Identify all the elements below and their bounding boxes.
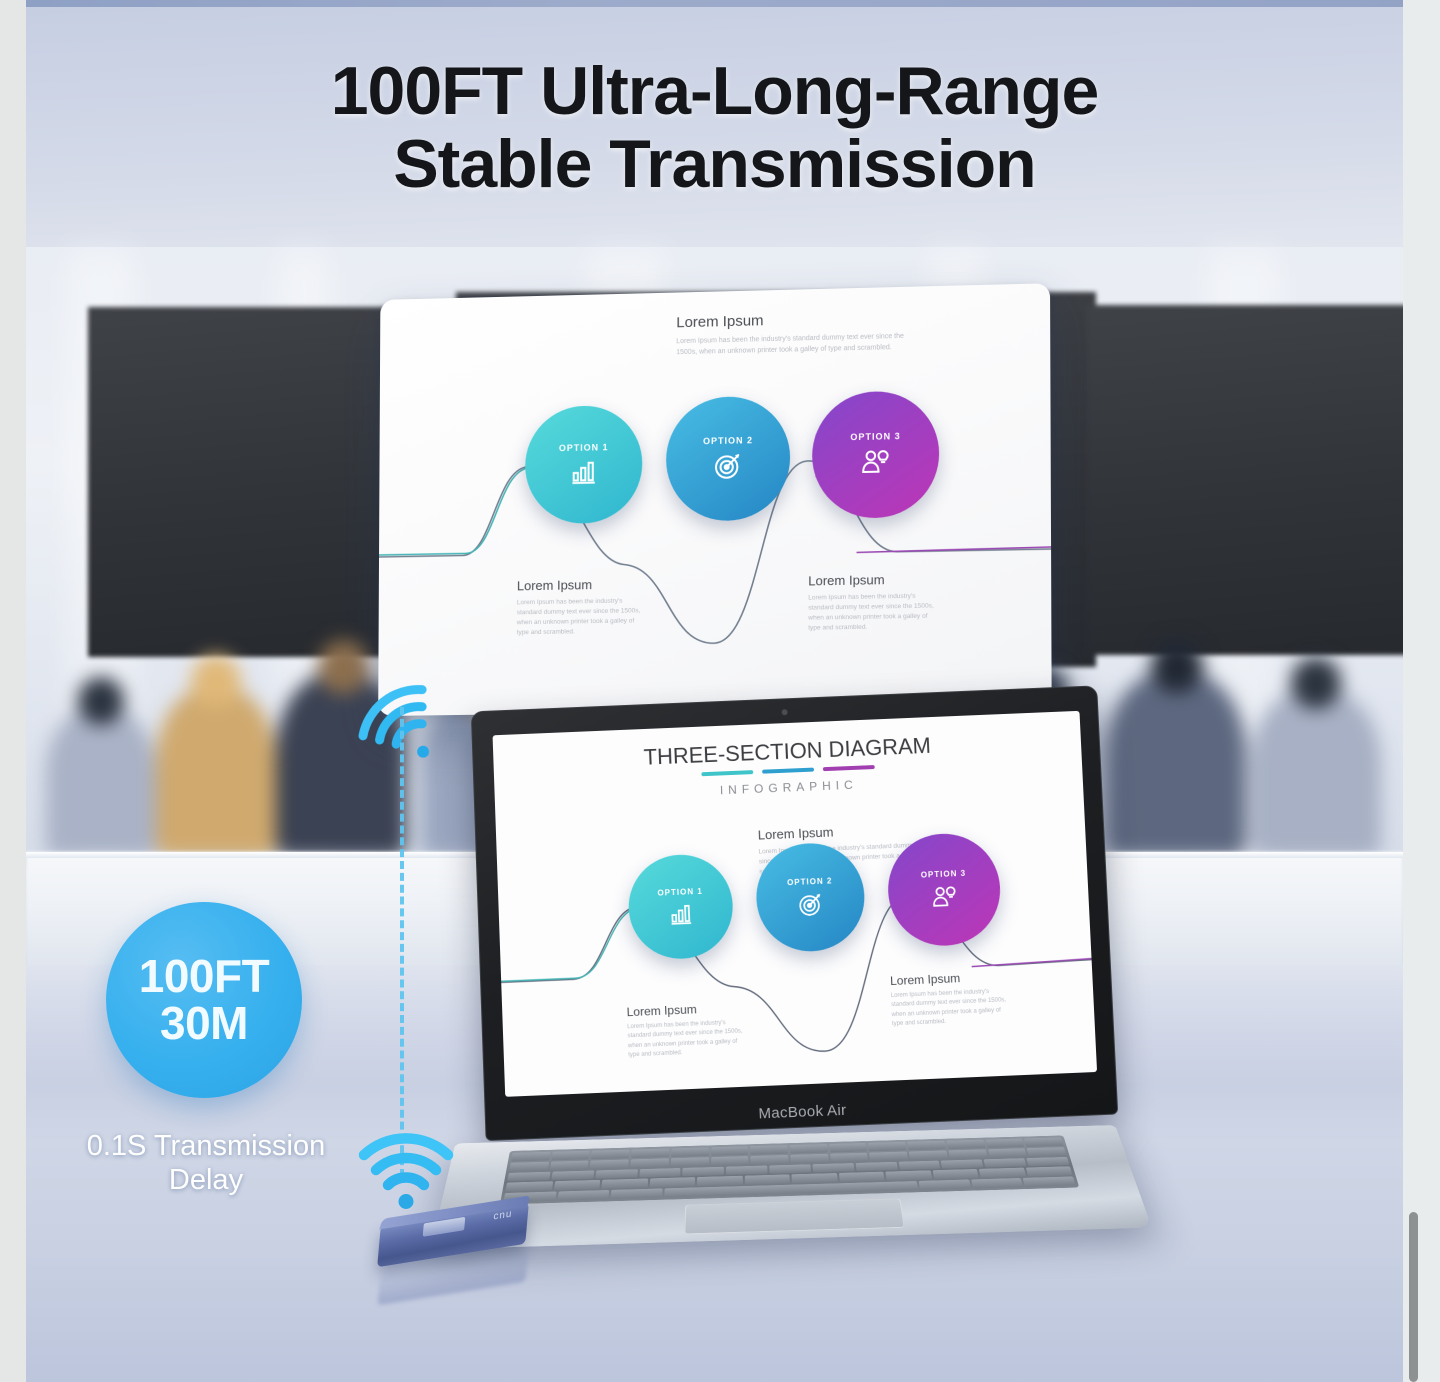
scrollbar-track[interactable] <box>1416 0 1430 1382</box>
projected-slide-board: Lorem Ipsum Lorem Ipsum has been the ind… <box>378 283 1052 716</box>
laptop-option-3-caption-body: Lorem Ipsum has been the industry's stan… <box>891 987 1013 1029</box>
top-accent-bar <box>26 0 1403 7</box>
laptop-infographic: THREE-SECTION DIAGRAM INFOGRAPHIC Lorem … <box>493 711 1098 1097</box>
product-marketing-image: 100FT Ultra-Long-Range Stable Transmissi… <box>0 0 1440 1382</box>
delay-line-2: Delay <box>169 1164 243 1196</box>
bar-chart-icon <box>667 900 694 927</box>
option-bubble-1[interactable]: OPTION 1 <box>525 405 642 525</box>
marketing-photo-canvas: 100FT Ultra-Long-Range Stable Transmissi… <box>26 7 1403 1382</box>
option-2-label: OPTION 2 <box>703 435 753 446</box>
laptop-screen: THREE-SECTION DIAGRAM INFOGRAPHIC Lorem … <box>493 711 1098 1097</box>
page-title: 100FT Ultra-Long-Range Stable Transmissi… <box>26 55 1403 202</box>
headline-line-2: Stable Transmission <box>26 128 1403 201</box>
bar-chart-icon <box>569 456 599 486</box>
wall-display-right <box>1086 305 1403 655</box>
dongle-brand-mark: cnu <box>493 1208 513 1222</box>
range-badge: 100FT 30M <box>106 902 302 1098</box>
dashed-connector-line <box>400 707 404 1177</box>
option-1-label: OPTION 1 <box>559 442 609 453</box>
accent-bar-blue <box>762 768 814 774</box>
laptop-option-3-caption-heading: Lorem Ipsum <box>890 969 1011 988</box>
scrollbar-thumb[interactable] <box>1409 1212 1418 1382</box>
slide-subtitle: INFOGRAPHIC <box>495 768 1083 806</box>
option-bubble-3[interactable]: OPTION 3 <box>812 390 939 519</box>
target-dart-icon <box>712 449 744 482</box>
laptop-option-3-label: OPTION 3 <box>921 868 967 879</box>
option-3-label: OPTION 3 <box>850 431 900 442</box>
slide-top-heading: Lorem Ipsum <box>676 309 906 331</box>
slide-top-body: Lorem Ipsum has been the industry's stan… <box>676 332 906 359</box>
laptop-keyboard[interactable] <box>500 1135 1079 1204</box>
option-bubble-2[interactable]: OPTION 2 <box>666 395 790 521</box>
headline-line-1: 100FT Ultra-Long-Range <box>331 53 1099 129</box>
person-idea-icon <box>930 882 959 911</box>
laptop-option-1-caption-body: Lorem Ipsum has been the industry's stan… <box>627 1018 747 1060</box>
target-dart-icon <box>796 889 825 918</box>
webcam-icon <box>782 709 788 715</box>
accent-bar-purple <box>823 765 875 771</box>
macbook-air-laptop: THREE-SECTION DIAGRAM INFOGRAPHIC Lorem … <box>446 697 1136 1277</box>
badge-feet: 100FT <box>139 953 269 1000</box>
laptop-option-bubble-1[interactable]: OPTION 1 <box>627 853 735 961</box>
laptop-base <box>430 1125 1152 1250</box>
person-idea-icon <box>859 445 891 478</box>
page-left-gutter <box>0 0 26 1382</box>
laptop-trackpad[interactable] <box>684 1198 904 1234</box>
laptop-option-1-label: OPTION 1 <box>657 886 703 897</box>
delay-line-1: 0.1S Transmission <box>87 1130 326 1162</box>
accent-bar-teal <box>701 770 753 776</box>
laptop-lid: THREE-SECTION DIAGRAM INFOGRAPHIC Lorem … <box>471 685 1118 1141</box>
option-1-caption-heading: Lorem Ipsum <box>517 576 646 593</box>
laptop-option-1-caption-heading: Lorem Ipsum <box>626 1000 745 1019</box>
projected-infographic: Lorem Ipsum Lorem Ipsum has been the ind… <box>378 283 1052 716</box>
transmission-delay-label: 0.1S Transmission Delay <box>56 1129 356 1197</box>
option-3-caption-body: Lorem Ipsum has been the industry's stan… <box>808 591 941 634</box>
wifi-signal-icon-delay <box>358 1131 454 1215</box>
laptop-option-2-label: OPTION 2 <box>787 876 833 887</box>
badge-meters: 30M <box>160 1000 248 1047</box>
option-3-caption-heading: Lorem Ipsum <box>808 571 941 588</box>
option-1-caption-body: Lorem Ipsum has been the industry's stan… <box>517 596 646 638</box>
